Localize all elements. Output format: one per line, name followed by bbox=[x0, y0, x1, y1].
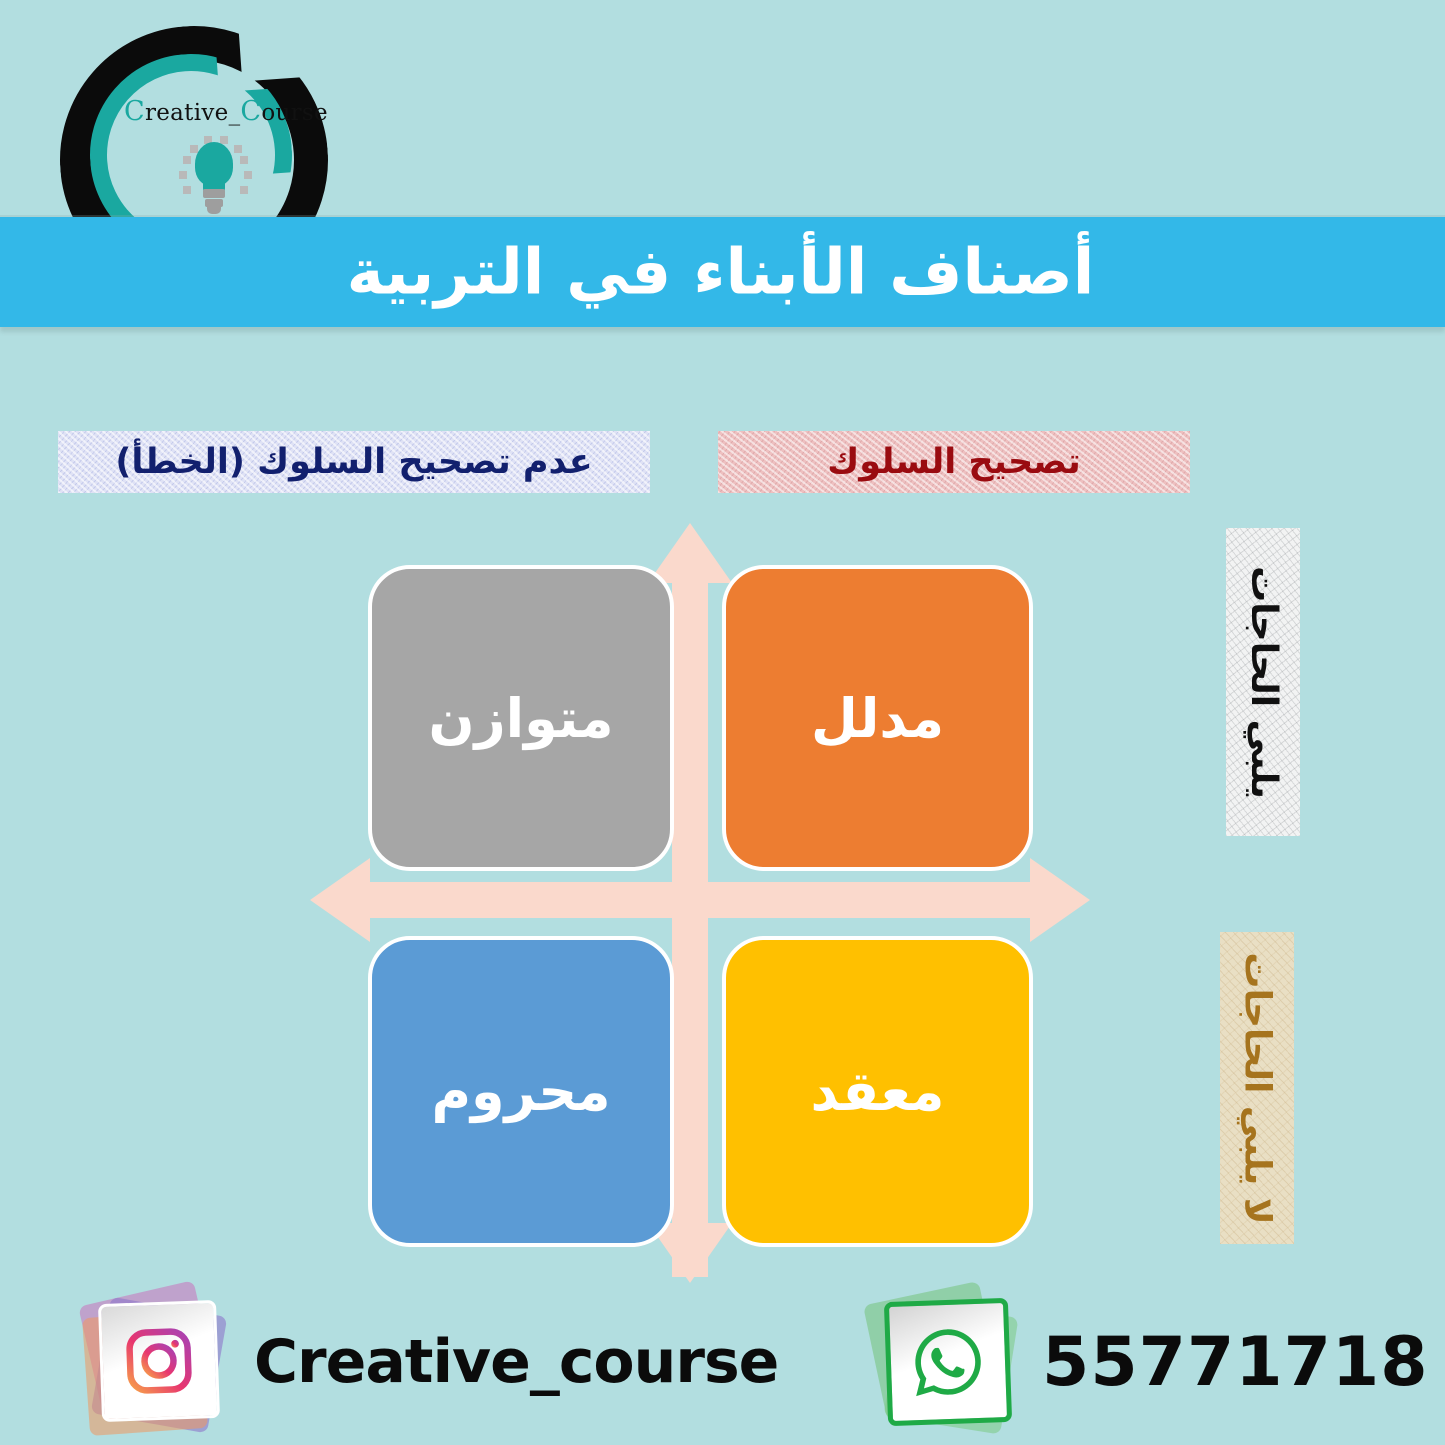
instagram-contact[interactable]: Creative_course bbox=[82, 1288, 778, 1436]
quadrant-deprived[interactable]: محروم bbox=[368, 936, 674, 1247]
quadrant-spoiled[interactable]: مدلل bbox=[722, 565, 1033, 871]
axis-label-not-meets-needs: لا يلبي الحاجات bbox=[1220, 932, 1294, 1244]
whatsapp-contact[interactable]: 55771718 bbox=[870, 1288, 1429, 1436]
axis-label-not-meets-needs-text: لا يلبي الحاجات bbox=[1236, 952, 1277, 1224]
instagram-handle: Creative_course bbox=[254, 1327, 778, 1397]
quadrant-balanced[interactable]: متوازن bbox=[368, 565, 674, 871]
page-title: أصناف الأبناء في التربية bbox=[0, 236, 1445, 309]
instagram-icon[interactable] bbox=[82, 1288, 230, 1436]
whatsapp-icon[interactable] bbox=[870, 1288, 1018, 1436]
lightbulb-icon bbox=[182, 138, 246, 218]
logo-wordmark: Creative_Course bbox=[124, 96, 324, 127]
axis-label-meets-needs: يلبي الحاجات bbox=[1226, 528, 1300, 836]
footer: Creative_course 55771718 bbox=[0, 1268, 1445, 1445]
axis-label-meets-needs-text: يلبي الحاجات bbox=[1242, 566, 1283, 799]
axis-label-no-correct-behavior: عدم تصحيح السلوك (الخطأ) bbox=[58, 431, 650, 493]
quadrant-complex[interactable]: معقد bbox=[722, 936, 1033, 1247]
axis-label-correct-behavior: تصحيح السلوك bbox=[718, 431, 1190, 493]
whatsapp-number: 55771718 bbox=[1042, 1323, 1429, 1402]
brand-logo: Creative_Course bbox=[56, 18, 326, 248]
title-banner: أصناف الأبناء في التربية bbox=[0, 217, 1445, 327]
